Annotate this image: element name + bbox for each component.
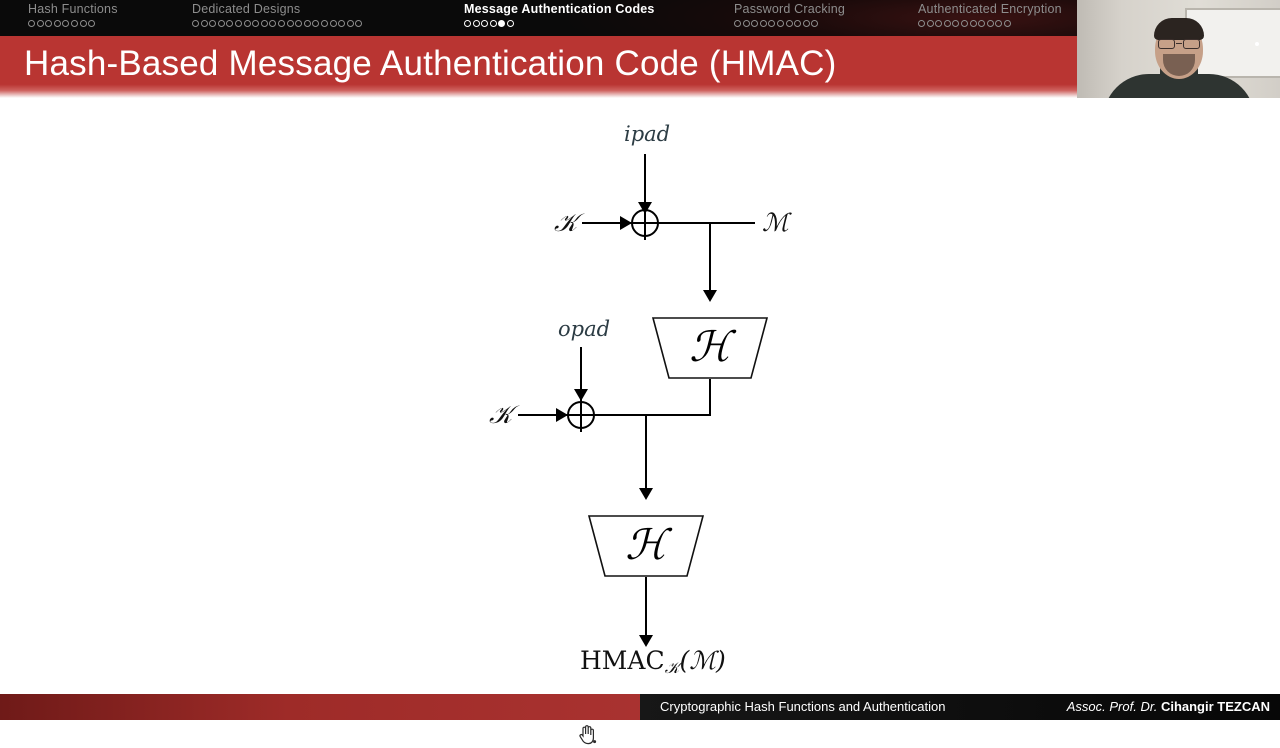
nav-section-authenticated-encryption[interactable]: Authenticated Encryption (918, 2, 1062, 29)
branch-line-to-hash-top (709, 222, 711, 294)
nav-section-password-cracking[interactable]: Password Cracking (734, 2, 845, 29)
ipad-line (644, 154, 646, 206)
hash-function-box-bottom: ℋ (588, 515, 704, 577)
key-label-bottom: 𝒦 (489, 400, 512, 430)
whiteboard-glare-dot (1255, 42, 1259, 46)
xor-gate-opad (567, 401, 595, 429)
nav-section-dots[interactable] (734, 19, 845, 29)
hash-bottom-input-arrowhead (639, 488, 653, 500)
nav-section-label: Password Cracking (734, 2, 845, 16)
hash-function-box-top: ℋ (652, 317, 768, 379)
hmac-output-prefix: HMAC (580, 646, 665, 675)
hmac-output-subscript: 𝒦 (665, 658, 680, 677)
nav-section-dots[interactable] (918, 19, 1062, 29)
nav-section-label: Hash Functions (28, 2, 118, 16)
nav-section-message-authentication-codes[interactable]: Message Authentication Codes (464, 2, 655, 29)
glasses-icon (1157, 39, 1201, 49)
opad-label: opad (558, 317, 610, 341)
nav-section-dots[interactable] (464, 19, 655, 29)
page-title: Hash-Based Message Authentication Code (… (24, 44, 836, 84)
branch-line-to-hash-bottom (645, 414, 647, 492)
nav-section-label: Authenticated Encryption (918, 2, 1062, 16)
xor-gate-ipad (631, 209, 659, 237)
nav-section-hash-functions[interactable]: Hash Functions (28, 2, 118, 29)
footer-author-band (0, 694, 640, 720)
ipad-label: ipad (624, 122, 670, 146)
footer-author-title: Assoc. Prof. Dr. (1067, 699, 1158, 714)
hash-glyph-top: ℋ (652, 317, 768, 379)
footer-course-title: Cryptographic Hash Functions and Authent… (660, 699, 945, 714)
hmac-output-label: HMAC𝒦(ℳ) (580, 646, 726, 678)
nav-section-dots[interactable] (28, 19, 118, 29)
nav-section-label: Message Authentication Codes (464, 2, 655, 16)
message-label: ℳ (762, 208, 789, 237)
nav-section-dots[interactable] (192, 19, 364, 29)
key-label-top: 𝒦 (554, 208, 577, 238)
hash-top-output-line (709, 379, 711, 416)
key-line-top (582, 222, 624, 224)
nav-section-dedicated-designs[interactable]: Dedicated Designs (192, 2, 364, 29)
hash-top-input-arrowhead (703, 290, 717, 302)
footer-author-name: Cihangir TEZCAN (1161, 699, 1270, 714)
hash-glyph-bottom: ℋ (588, 515, 704, 577)
key-line-bottom (518, 414, 560, 416)
presenter-hair (1154, 18, 1204, 40)
footer-author-text: Assoc. Prof. Dr. Cihangir TEZCAN (1067, 699, 1270, 714)
ipad-xor-output-line (659, 222, 755, 224)
slide-content-area: ipad 𝒦 ℳ ℋ opad 𝒦 ℋ (0, 98, 1280, 692)
hmac-output-argument: (ℳ) (679, 646, 725, 675)
nav-section-label: Dedicated Designs (192, 2, 364, 16)
hmac-output-line (645, 577, 647, 639)
slide-footer: Assoc. Prof. Dr. Cihangir TEZCAN Cryptog… (0, 694, 1280, 720)
opad-line (580, 347, 582, 393)
hand-cursor-icon (577, 723, 597, 745)
